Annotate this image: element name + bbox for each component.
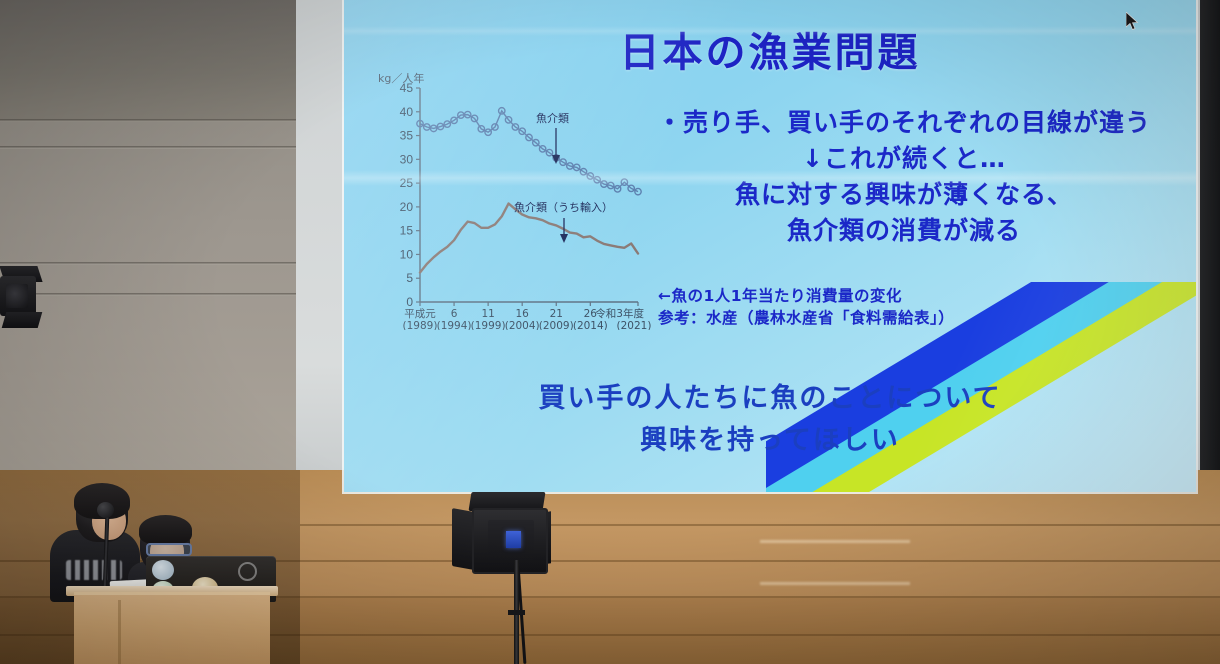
slide-closing-message: 買い手の人たちに魚のことについて 興味を持ってほしい (344, 378, 1196, 462)
x-tick-era: 11 (481, 308, 494, 320)
x-tick-year: (1999) (471, 320, 506, 330)
microphone-head (97, 502, 114, 518)
x-tick-year: (1989) (403, 320, 438, 330)
presenter-right-hair (139, 515, 192, 545)
y-tick-label: 15 (400, 224, 414, 238)
annotation-arrowhead-import (560, 234, 568, 243)
x-tick-year: (2014) (573, 320, 608, 330)
x-tick-era: 令和3年度 (595, 307, 644, 320)
laptop-logo (238, 562, 257, 581)
podium-edge (118, 600, 121, 664)
mouse-pointer-icon (1126, 12, 1140, 32)
y-tick-label: 40 (400, 105, 414, 119)
panel-light-barn-left (452, 508, 474, 570)
y-tick-label: 30 (400, 152, 414, 166)
slide-content: 日本の漁業問題 kg／人年 051015202530354045 平成元(198… (344, 0, 1196, 492)
laptop-sticker (152, 560, 174, 580)
x-tick-year: (1994) (437, 320, 472, 330)
body-line-1: ・売り手、買い手のそれぞれの目線が違う (612, 105, 1196, 141)
y-tick-label: 20 (400, 200, 414, 214)
wall-panel-upper (0, 0, 300, 122)
wood-highlight (760, 540, 910, 543)
presenter-right-glasses (146, 543, 192, 556)
x-tick-year: (2004) (505, 320, 540, 330)
light-tripod-collar (508, 610, 525, 615)
body-line-4: 魚介類の消費が減る (612, 213, 1196, 249)
presentation-photo: 日本の漁業問題 kg／人年 051015202530354045 平成元(198… (0, 0, 1220, 664)
podium (74, 592, 270, 664)
slide-caption: ←魚の1人1年当たり消費量の変化 参考：水産（農林水産省「食料需給表」） (658, 285, 1078, 329)
closing-line-1: 買い手の人たちに魚のことについて (344, 378, 1196, 420)
y-tick-label: 35 (400, 129, 414, 143)
x-tick-era: 21 (550, 308, 563, 320)
wood-seam (300, 524, 1220, 526)
wall-seam (0, 262, 300, 265)
wood-highlight (760, 582, 910, 585)
x-tick-era: 16 (516, 308, 530, 320)
wall-seam (0, 293, 300, 296)
y-tick-label: 10 (400, 247, 414, 261)
x-tick-year: (2009) (539, 320, 574, 330)
panel-light-display (506, 531, 521, 548)
wall-seam (0, 119, 300, 122)
x-tick-era: 6 (451, 308, 458, 320)
stage-light-lens (6, 284, 28, 308)
annotation-import: 魚介類（うち輸入） (514, 200, 613, 214)
x-tick-group: 平成元(1989)6(1994)11(1999)16(2004)21(2009)… (403, 302, 654, 330)
x-tick-era: 平成元 (404, 308, 436, 320)
closing-line-2: 興味を持ってほしい (344, 420, 1196, 462)
y-tick-label: 0 (406, 295, 413, 309)
caption-line-1: ←魚の1人1年当たり消費量の変化 (658, 285, 1078, 307)
screen-glare-top (344, 26, 1196, 36)
screen-glare-mid (344, 170, 1196, 186)
wall-seam (0, 146, 300, 149)
presenter-left-shirt-logo (66, 560, 122, 580)
y-tick-label: 45 (400, 81, 414, 95)
caption-line-2: 参考：水産（農林水産省「食料需給表」） (658, 307, 1078, 329)
y-tick-group: 051015202530354045 (400, 81, 420, 309)
x-tick-year: (2021) (617, 320, 652, 330)
y-tick-label: 5 (406, 271, 413, 285)
annotation-seafood: 魚介類 (536, 112, 569, 125)
stage-light-barn-bottom (2, 312, 43, 328)
